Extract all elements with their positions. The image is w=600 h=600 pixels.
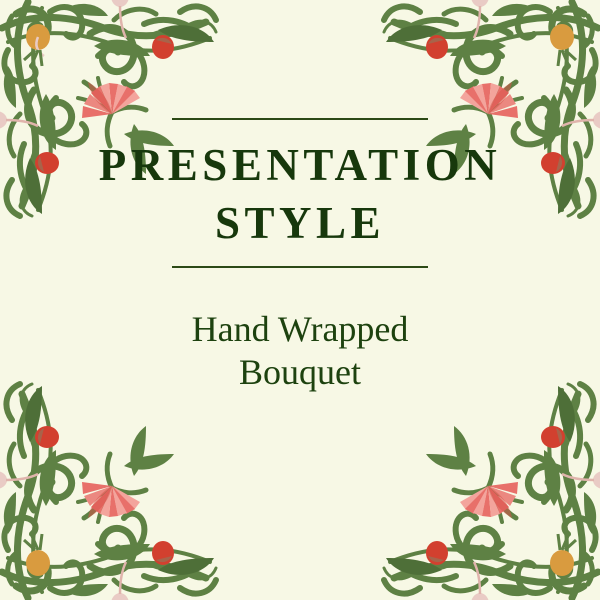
floral-corner-ornament-bottom-right — [376, 376, 600, 600]
floral-corner-ornament-bottom-left — [0, 376, 224, 600]
ornament-gold-berry — [24, 24, 50, 66]
bottom-divider-rule — [172, 266, 428, 268]
page-title-line-1: PRESENTATION — [0, 136, 600, 194]
ornament-pink-bud-top — [111, 0, 129, 38]
subtitle-line-2: Bouquet — [0, 351, 600, 394]
subtitle-line-1: Hand Wrapped — [0, 308, 600, 351]
ornament-coral-flower — [82, 82, 140, 118]
ornament-red-berry-top — [152, 35, 174, 59]
ornament-red-berry-inner — [22, 20, 40, 40]
top-divider-rule — [172, 118, 428, 120]
subtitle-block: Hand Wrapped Bouquet — [0, 308, 600, 394]
page-title-line-2: STYLE — [0, 194, 600, 252]
title-block: PRESENTATION STYLE — [0, 118, 600, 268]
presentation-style-card: PRESENTATION STYLE Hand Wrapped Bouquet — [0, 0, 600, 600]
